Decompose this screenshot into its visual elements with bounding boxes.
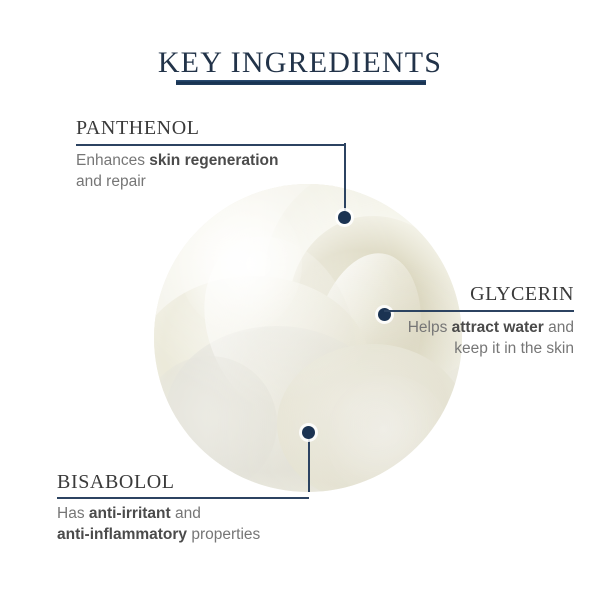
callout-body-glycerin: Helps attract water andkeep it in the sk… <box>356 317 574 359</box>
callout-dot-panthenol <box>338 211 351 224</box>
callout-glycerin: GLYCERIN Helps attract water andkeep it … <box>356 282 574 359</box>
callout-panthenol: PANTHENOL Enhances skin regenerationand … <box>76 116 345 192</box>
callout-rule-bisabolol <box>57 497 309 499</box>
callout-heading-panthenol: PANTHENOL <box>76 116 345 140</box>
callout-body-line-2: keep it in the skin <box>356 338 574 359</box>
callout-body-bisabolol: Has anti-irritant andanti-inflammatory p… <box>57 503 309 545</box>
emphasis-text: anti-inflammatory <box>57 526 187 543</box>
title-underline <box>176 80 426 85</box>
callout-dot-bisabolol <box>302 426 315 439</box>
plain-text: and <box>544 319 574 336</box>
emphasis-text: attract water <box>452 319 544 336</box>
plain-text: and repair <box>76 173 146 190</box>
callout-body-line-2: anti-inflammatory properties <box>57 524 309 545</box>
emphasis-text: skin regeneration <box>149 152 278 169</box>
callout-body-line-2: and repair <box>76 171 345 192</box>
page-title-text: KEY INGREDIENTS <box>0 46 600 80</box>
emphasis-text: anti-irritant <box>89 505 171 522</box>
callout-heading-bisabolol: BISABOLOL <box>57 470 309 494</box>
key-ingredients-infographic: KEY INGREDIENTS PANTHENOL Enhances skin … <box>0 0 600 600</box>
callout-heading-glycerin: GLYCERIN <box>356 282 574 306</box>
callout-body-line-1: Helps attract water and <box>356 317 574 338</box>
callout-body-panthenol: Enhances skin regenerationand repair <box>76 150 345 192</box>
callout-body-line-1: Has anti-irritant and <box>57 503 309 524</box>
page-title: KEY INGREDIENTS <box>0 46 600 80</box>
plain-text: and <box>171 505 201 522</box>
callout-rule-panthenol <box>76 144 345 146</box>
plain-text: properties <box>187 526 260 543</box>
callout-body-line-1: Enhances skin regeneration <box>76 150 345 171</box>
plain-text: keep it in the skin <box>454 340 574 357</box>
callout-bisabolol: BISABOLOL Has anti-irritant andanti-infl… <box>57 470 309 545</box>
callout-rule-glycerin <box>384 310 574 312</box>
plain-text: Has <box>57 505 89 522</box>
plain-text: Helps <box>408 319 452 336</box>
plain-text: Enhances <box>76 152 149 169</box>
